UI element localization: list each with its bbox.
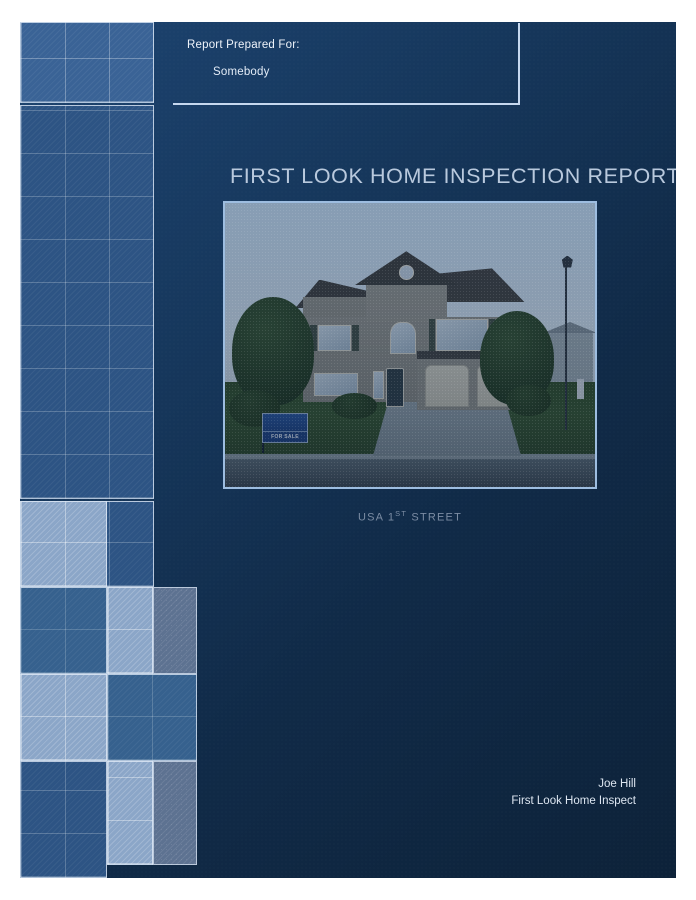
decor-block-mosaic-gray-1 <box>153 587 197 674</box>
caption-main: USA 1 <box>358 512 395 524</box>
prepared-for-label: Report Prepared For: <box>187 39 518 51</box>
cover-photo-frame: FOR SALE <box>223 201 597 489</box>
prepared-for-name: Somebody <box>213 66 518 78</box>
photo-caption: USA 1ST STREET <box>223 509 597 524</box>
author-block: Joe Hill First Look Home Inspect <box>511 776 636 810</box>
decor-block-upper-tall-grid <box>20 105 154 499</box>
cover-photo-house: FOR SALE <box>225 203 595 487</box>
photo-for-sale-sign: FOR SALE <box>262 413 308 443</box>
decor-block-mosaic-light-2 <box>107 587 153 674</box>
photo-garage-door-left <box>425 365 469 408</box>
report-prepared-for-box: Report Prepared For: Somebody <box>173 23 520 105</box>
company-name: First Look Home Inspect <box>511 793 636 810</box>
caption-ordinal-suffix: ST <box>395 509 407 518</box>
decor-block-mosaic-light-1 <box>20 501 107 587</box>
decor-block-mosaic-dark-1 <box>20 761 107 878</box>
photo-sign-label: FOR SALE <box>263 432 307 442</box>
decor-block-mosaic-light-3 <box>20 674 107 761</box>
photo-sidelight-window <box>373 371 384 399</box>
decor-block-mosaic-light-4 <box>107 761 153 865</box>
photo-road <box>225 459 595 487</box>
photo-sign-upper <box>263 414 307 432</box>
photo-front-door <box>386 368 405 408</box>
photo-bush-center <box>332 393 376 419</box>
photo-shutter-c <box>429 319 436 350</box>
photo-mailbox <box>577 379 584 399</box>
caption-tail: STREET <box>407 512 462 524</box>
photo-window-upper-left <box>318 325 351 351</box>
photo-shutter-b <box>352 325 359 351</box>
photo-tree-left <box>232 297 313 405</box>
decor-block-mosaic-medium-1 <box>20 587 107 674</box>
photo-lamp-post <box>565 260 567 430</box>
author-name: Joe Hill <box>511 776 636 793</box>
photo-attic-window <box>399 265 414 279</box>
report-cover-panel: Report Prepared For: Somebody FIRST LOOK… <box>20 22 676 878</box>
decor-block-mosaic-medium-2 <box>107 674 197 761</box>
decor-block-top-left-grid <box>20 22 154 103</box>
page-title: FIRST LOOK HOME INSPECTION REPORT <box>230 164 650 189</box>
photo-window-upper-center <box>436 319 488 350</box>
decor-block-mosaic-gray-2 <box>153 761 197 865</box>
photo-bush-right <box>506 385 550 416</box>
photo-window-gable-arched <box>390 322 416 353</box>
